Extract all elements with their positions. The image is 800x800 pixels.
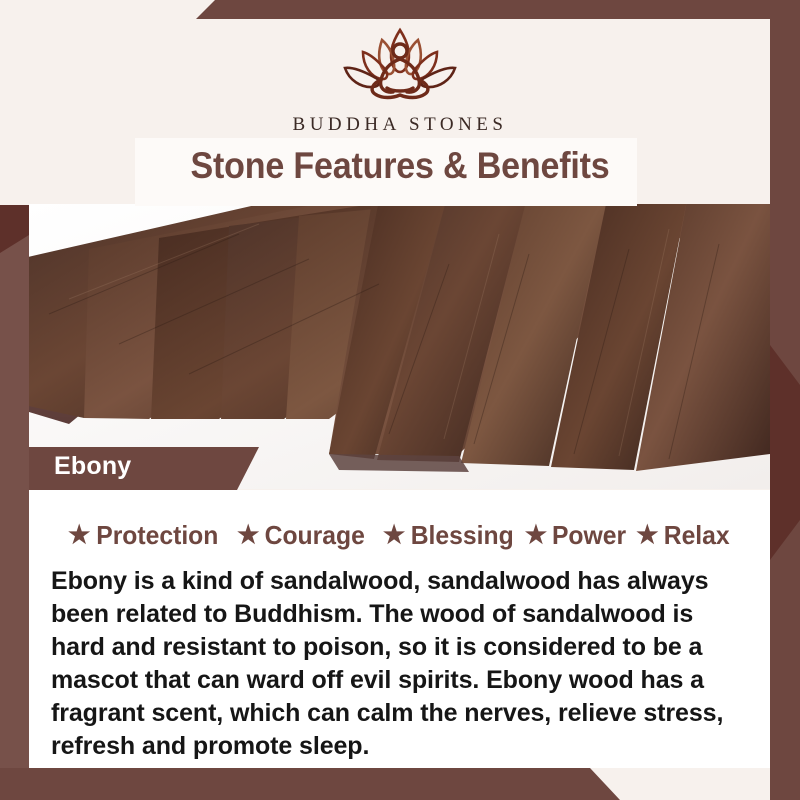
star-icon: ★ — [68, 523, 90, 548]
poster-canvas: BUDDHA STONES Stone Features & Benefits … — [0, 0, 800, 800]
brand-name: BUDDHA STONES — [293, 114, 508, 136]
benefit-label: Power — [552, 520, 626, 551]
benefit-label: Courage — [265, 520, 365, 551]
star-icon: ★ — [383, 523, 405, 548]
benefit-label: Relax — [663, 520, 729, 551]
benefit-item-power: ★ Power — [525, 520, 628, 551]
page-title: Stone Features & Benefits — [32, 145, 768, 187]
benefit-label: Blessing — [411, 520, 514, 551]
star-icon: ★ — [525, 523, 547, 548]
lotus-meditation-figure-icon — [325, 22, 475, 110]
benefit-label: Protection — [97, 520, 219, 551]
star-icon: ★ — [636, 523, 658, 548]
frame-left-border — [0, 205, 29, 800]
product-label: Ebony — [54, 452, 131, 481]
benefit-item-courage: ★ Courage — [237, 520, 368, 551]
ebony-wood-planks-photo — [29, 204, 770, 489]
product-photo — [29, 204, 770, 489]
content-inner: ★ Protection ★ Courage ★ Blessing ★ Powe… — [29, 498, 770, 763]
benefit-item-protection: ★ Protection — [68, 520, 222, 551]
benefit-item-relax: ★ Relax — [636, 520, 731, 551]
frame-bottom-band — [0, 768, 800, 800]
star-icon: ★ — [237, 523, 259, 548]
brand-header: BUDDHA STONES — [0, 0, 800, 150]
description-text: Ebony is a kind of sandalwood, sandalwoo… — [41, 565, 758, 763]
benefits-row: ★ Protection ★ Courage ★ Blessing ★ Powe… — [41, 520, 758, 551]
benefit-item-blessing: ★ Blessing — [383, 520, 517, 551]
